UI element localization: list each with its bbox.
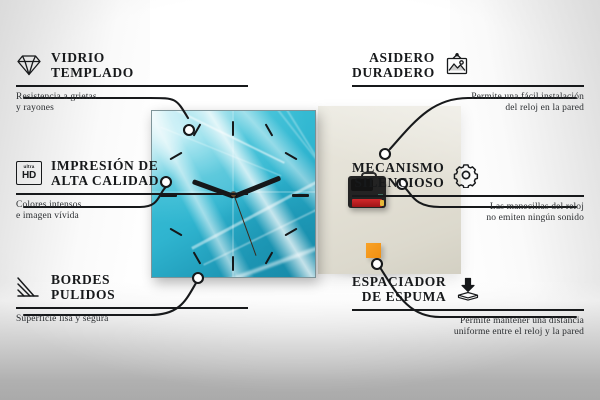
feature-title-line1: ESPACIADOR (352, 274, 446, 289)
hanging-frame-icon (444, 52, 470, 78)
ultra-hd-icon: ultra HD (16, 160, 42, 186)
feature-title-line1: ASIDERO (352, 50, 435, 65)
polished-edges-icon (16, 274, 42, 300)
feature-title-line2: DE ESPUMA (352, 289, 446, 304)
feature-desc-line1: Superficie lisa y segura (16, 314, 248, 326)
feature-title-line1: MECANISMO (352, 160, 444, 175)
feature-desc-line2: y rayones (16, 103, 248, 115)
feature-bordes-pulidos: BORDES PULIDOS Superficie lisa y segura (16, 272, 248, 325)
feature-divider (16, 193, 248, 195)
feature-title-line1: VIDRIO (51, 50, 134, 65)
feature-title-line2: PULIDOS (51, 287, 115, 302)
diamond-icon (16, 52, 42, 78)
feature-asidero-duradero: ASIDERO DURADERO Permite una fácil insta… (352, 50, 584, 115)
foam-spacer (366, 243, 381, 258)
feature-desc-line1: Resistencia a grietas (16, 92, 248, 104)
feature-desc-line1: Colores intensos (16, 200, 248, 212)
feature-desc-line2: e imagen vívida (16, 211, 248, 223)
feature-desc-line2: no emiten ningún sonido (352, 213, 584, 225)
feature-vidrio-templado: VIDRIO TEMPLADO Resistencia a grietas y … (16, 50, 248, 115)
arrow-down-layers-icon (455, 276, 481, 302)
feature-desc-line1: Permite mantener una distancia (352, 316, 584, 328)
feature-divider (16, 307, 248, 309)
feature-desc-line2: del reloj en la pared (352, 103, 584, 115)
feature-desc-line2: uniforme entre el reloj y la pared (352, 327, 584, 339)
feature-desc-line1: Permite una fácil instalación (352, 92, 584, 104)
feature-title-line1: IMPRESIÓN DE (51, 158, 159, 173)
ultra-hd-icon-main-text: HD (22, 171, 36, 181)
feature-title-line1: BORDES (51, 272, 115, 287)
clock-tick (232, 121, 234, 136)
feature-impresion-alta-calidad: ultra HD IMPRESIÓN DE ALTA CALIDAD Color… (16, 158, 248, 223)
feature-divider (352, 85, 584, 87)
gear-icon (453, 162, 479, 188)
feature-mecanismo-silencioso: MECANISMO SILENCIOSO Las manecillas del … (352, 160, 584, 225)
clock-tick (292, 194, 309, 197)
clock-tick (232, 256, 234, 271)
feature-title-line2: ALTA CALIDAD (51, 173, 159, 188)
feature-title-line2: TEMPLADO (51, 65, 134, 80)
feature-divider (352, 195, 584, 197)
feature-desc-line1: Las manecillas del reloj (352, 202, 584, 214)
feature-divider (352, 309, 584, 311)
feature-espaciador-de-espuma: ESPACIADOR DE ESPUMA Permite mantener un… (352, 274, 584, 339)
feature-divider (16, 85, 248, 87)
feature-title-line2: SILENCIOSO (352, 175, 444, 190)
infographic-canvas: VIDRIO TEMPLADO Resistencia a grietas y … (0, 0, 600, 400)
feature-title-line2: DURADERO (352, 65, 435, 80)
